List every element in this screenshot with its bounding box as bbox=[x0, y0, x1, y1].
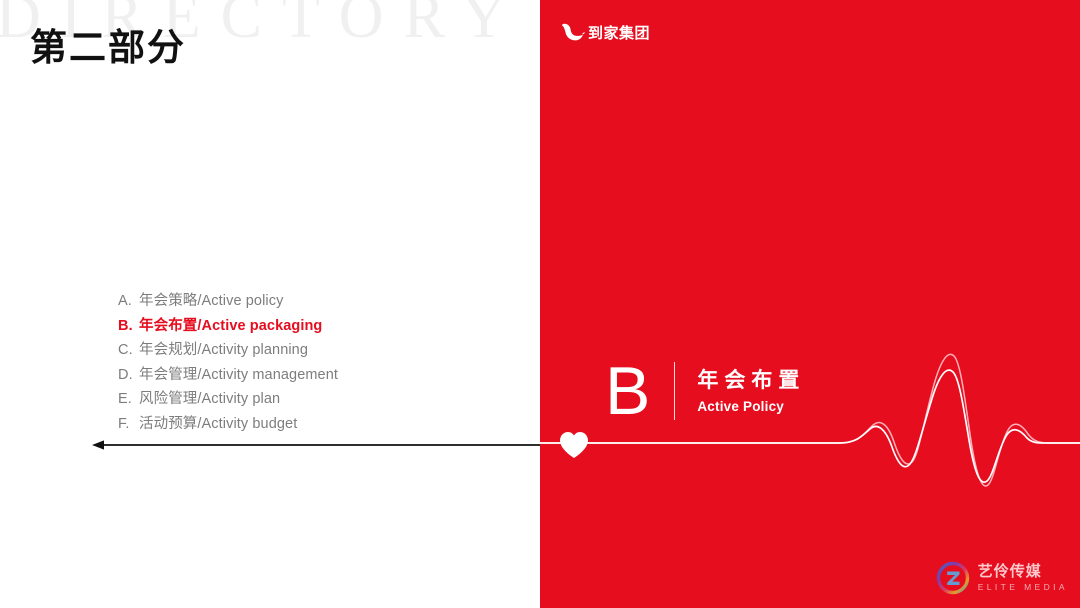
swan-icon bbox=[560, 21, 586, 43]
toc-item-letter: B. bbox=[118, 318, 139, 334]
heart-icon bbox=[558, 430, 590, 460]
toc-item-label: 年会策略/Active policy bbox=[139, 289, 283, 310]
toc-item-a[interactable]: A. 年会策略/Active policy bbox=[118, 289, 518, 314]
right-red-panel: 到家集团 B 年会布置 Active Policy bbox=[540, 0, 1080, 608]
toc-item-label: 年会管理/Activity management bbox=[139, 363, 338, 384]
chapter-title-en: Active Policy bbox=[697, 399, 805, 415]
chapter-texts: 年会布置 Active Policy bbox=[697, 367, 805, 414]
toc-item-f[interactable]: F. 活动预算/Activity budget bbox=[118, 412, 518, 437]
toc-item-letter: A. bbox=[118, 293, 139, 309]
toc-item-label: 活动预算/Activity budget bbox=[139, 412, 297, 433]
toc-item-letter: C. bbox=[118, 342, 139, 358]
toc-item-letter: F. bbox=[118, 416, 139, 432]
toc-item-label: 年会布置/Active packaging bbox=[139, 314, 322, 335]
chapter-letter: B bbox=[605, 357, 650, 425]
media-watermark: 艺伶传媒 ELITE MEDIA bbox=[935, 560, 1068, 596]
chapter-heading: B 年会布置 Active Policy bbox=[605, 355, 805, 427]
toc-item-letter: D. bbox=[118, 367, 139, 383]
toc-item-e[interactable]: E. 风险管理/Activity plan bbox=[118, 387, 518, 412]
chapter-title-cn: 年会布置 bbox=[697, 367, 805, 393]
chapter-divider bbox=[674, 362, 675, 420]
brand-name: 到家集团 bbox=[588, 22, 650, 43]
toc-item-c[interactable]: C. 年会规划/Activity planning bbox=[118, 338, 518, 363]
table-of-contents: A. 年会策略/Active policy B. 年会布置/Active pac… bbox=[118, 289, 518, 436]
watermark-texts: 艺伶传媒 ELITE MEDIA bbox=[978, 563, 1068, 593]
left-arrow-icon bbox=[92, 434, 540, 456]
toc-item-letter: E. bbox=[118, 391, 139, 407]
toc-item-label: 年会规划/Activity planning bbox=[139, 338, 308, 359]
toc-item-b[interactable]: B. 年会布置/Active packaging bbox=[118, 314, 518, 339]
brand-logo: 到家集团 bbox=[560, 18, 650, 46]
left-panel: DIRECTORY 第二部分 A. 年会策略/Active policy B. … bbox=[0, 0, 540, 608]
watermark-name-en: ELITE MEDIA bbox=[978, 582, 1068, 593]
toc-item-d[interactable]: D. 年会管理/Activity management bbox=[118, 363, 518, 388]
slide-canvas: DIRECTORY 第二部分 A. 年会策略/Active policy B. … bbox=[0, 0, 1080, 608]
watermark-name-cn: 艺伶传媒 bbox=[978, 563, 1068, 580]
toc-item-label: 风险管理/Activity plan bbox=[139, 387, 280, 408]
elite-media-logo-icon bbox=[935, 560, 971, 596]
page-title: 第二部分 bbox=[30, 26, 186, 70]
